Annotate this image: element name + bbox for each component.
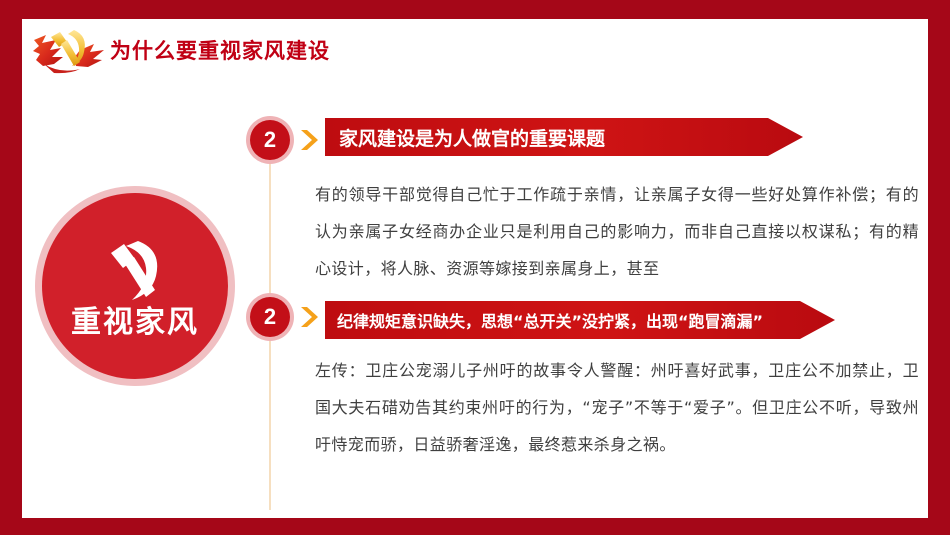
step-marker-1[interactable]: 2 xyxy=(250,120,290,160)
frame-border-top xyxy=(0,0,950,19)
frame-border-bottom xyxy=(0,518,950,535)
slide-canvas: 为什么要重视家风建设 重视家风 2 家风建设是为人做官的重要课题 有的领导干部觉… xyxy=(0,0,950,535)
step-marker-2[interactable]: 2 xyxy=(250,297,290,337)
section-banner-2: 纪律规矩意识缺失，思想“总开关”没拧紧，出现“跑冒滴漏” xyxy=(325,301,835,339)
section-banner-1: 家风建设是为人做官的重要课题 xyxy=(325,118,803,156)
party-emblem-icon xyxy=(30,24,106,76)
topic-badge: 重视家风 xyxy=(42,193,228,379)
frame-border-right xyxy=(928,0,950,535)
page-title: 为什么要重视家风建设 xyxy=(110,35,330,65)
section-paragraph-1: 有的领导干部觉得自己忙于工作疏于亲情，让亲属子女得一些好处算作补偿；有的认为亲属… xyxy=(315,176,919,287)
topic-badge-label: 重视家风 xyxy=(71,308,199,338)
slide-header: 为什么要重视家风建设 xyxy=(22,19,928,81)
frame-border-left xyxy=(0,0,22,535)
hammer-and-sickle-icon xyxy=(98,238,172,304)
section-paragraph-2: 左传：卫庄公宠溺儿子州吁的故事令人警醒：州吁喜好武事，卫庄公不加禁止，卫国大夫石… xyxy=(315,352,919,463)
